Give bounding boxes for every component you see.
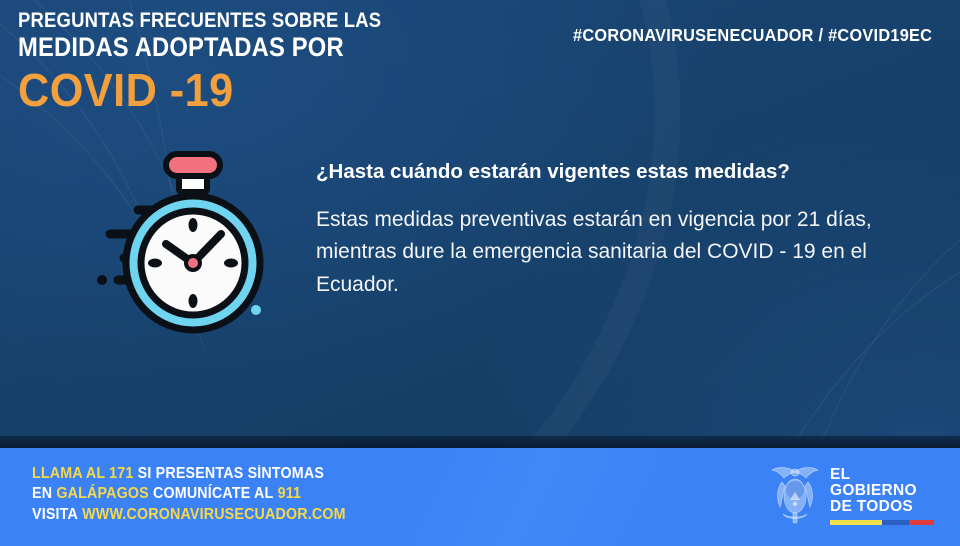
footer-website-url[interactable]: www.coronavirusecuador.com [82,506,346,523]
title-covid-highlight: COVID -19 [18,67,413,113]
title-line-2: Medidas adoptadas por [18,34,388,61]
government-logo: EL GOBIERNO DE TODOS [769,464,934,526]
poster-header: Preguntas frecuentes sobre las Medidas a… [0,0,960,120]
ecuador-flag-bar [830,520,934,525]
flag-yellow-segment [830,520,882,525]
footer-line2-part1: En [32,485,52,502]
footer-divider [0,436,960,448]
flag-red-segment [909,520,934,525]
flag-blue-segment [882,520,909,525]
question-heading: ¿Hasta cuándo estarán vigentes estas med… [316,160,916,185]
gov-line-3: DE TODOS [830,499,934,515]
answer-paragraph: Estas medidas preventivas estarán en vig… [316,204,886,302]
covid-info-poster: Preguntas frecuentes sobre las Medidas a… [0,0,960,546]
main-content: ¿Hasta cuándo estarán vigentes estas med… [0,130,960,430]
footer-line2-part3: comunícate al [153,485,273,502]
footer-contact-text: Llama al 171 si presentas síntomas En Ga… [32,464,346,525]
campaign-hashtag: #CORONAVIRUSENECUADOR / #COVID19EC [573,25,932,46]
ecuador-coat-of-arms-icon [769,464,821,526]
gov-line-1: EL [830,467,934,483]
stopwatch-icon [88,148,298,348]
footer-line-3: Visita www.coronavirusecuador.com [32,505,346,525]
gov-line-2: GOBIERNO [830,483,934,499]
title-block: Preguntas frecuentes sobre las Medidas a… [18,10,438,113]
footer-line3-part1: Visita [32,506,78,523]
footer-line-2: En Galápagos comunícate al 911 [32,484,346,504]
footer-line1-part2: si presentas síntomas [138,465,324,482]
footer-line-1: Llama al 171 si presentas síntomas [32,464,346,484]
text-column: ¿Hasta cuándo estarán vigentes estas med… [316,160,916,301]
footer-line2-part2: Galápagos [56,485,149,502]
government-logo-text: EL GOBIERNO DE TODOS [830,465,934,526]
poster-footer: Llama al 171 si presentas síntomas En Ga… [0,448,960,546]
title-line-1: Preguntas frecuentes sobre las [18,10,388,31]
footer-line2-part4: 911 [278,485,302,502]
footer-line1-part1: Llama al 171 [32,465,134,482]
